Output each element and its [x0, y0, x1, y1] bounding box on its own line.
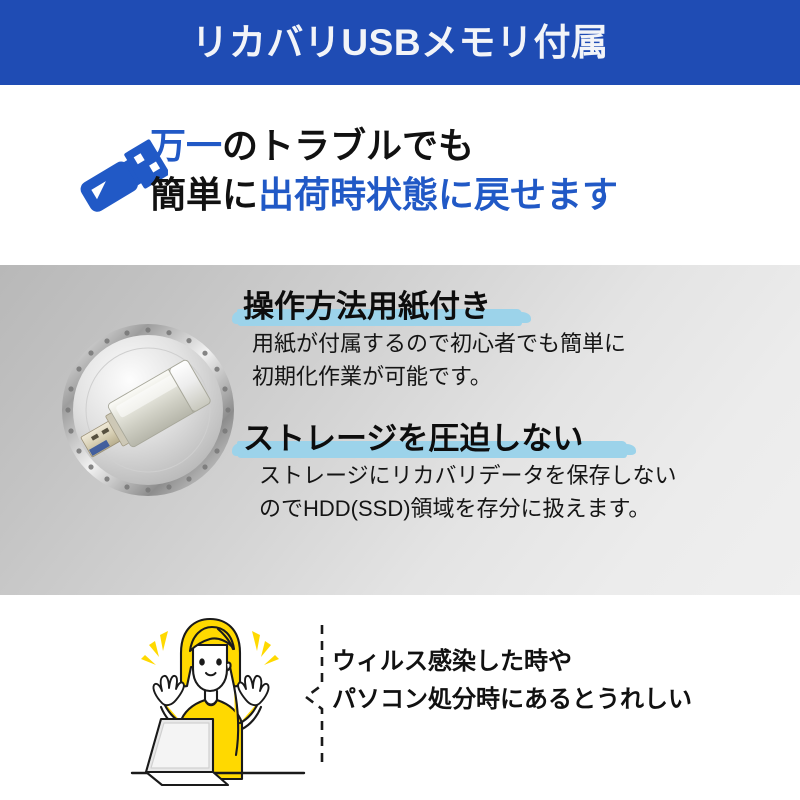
feature-1-body-line-1: 用紙が付属するので初心者でも簡単に	[252, 327, 783, 360]
bottom-caption-line-2: パソコン処分時にあるとうれしい	[332, 681, 792, 719]
page-title: リカバリUSBメモリ付属	[191, 24, 608, 61]
bottom-caption-line-1: ウィルス感染した時や	[332, 643, 792, 681]
headline-text-block: 万一のトラブルでも 簡単に出荷時状態に戻せます	[150, 121, 790, 219]
feature-2-body-line-1: ストレージにリカバリデータを保存しない	[259, 459, 783, 492]
bottom-caption: ウィルス感染した時や パソコン処分時にあるとうれしい	[332, 643, 792, 719]
feature-2-body-line-2: のでHDD(SSD)領域を存分に扱えます。	[259, 492, 783, 525]
usb-flash-drive-photo	[58, 320, 238, 500]
happy-woman-with-laptop-illustration	[118, 607, 318, 787]
feature-text-column: 操作方法用紙付き 用紙が付属するので初心者でも簡単に 初期化作業が可能です。 ス…	[243, 287, 783, 525]
feature-2-heading-text: ストレージを圧迫しない	[243, 421, 583, 456]
headline-line-1: 万一のトラブルでも	[150, 121, 790, 170]
headline-line-1-emphasis: 万一	[150, 125, 222, 166]
feature-1-heading-text: 操作方法用紙付き	[243, 289, 491, 324]
headline-line-2-emphasis: 出荷時状態に戻せます	[258, 174, 618, 215]
advertisement-page: リカバリUSBメモリ付属 万一の	[0, 0, 800, 800]
headline-line-1-rest: のトラブルでも	[222, 125, 474, 166]
feature-item-1: 操作方法用紙付き 用紙が付属するので初心者でも簡単に 初期化作業が可能です。	[243, 287, 783, 393]
bottom-section: ウィルス感染した時や パソコン処分時にあるとうれしい	[0, 595, 800, 800]
headline-section: 万一のトラブルでも 簡単に出荷時状態に戻せます	[0, 85, 800, 265]
headline-line-2: 簡単に出荷時状態に戻せます	[150, 170, 790, 219]
feature-item-2: ストレージを圧迫しない ストレージにリカバリデータを保存しない のでHDD(SS…	[243, 419, 783, 525]
headline-line-2-lead: 簡単に	[150, 174, 258, 215]
header-banner: リカバリUSBメモリ付属	[0, 0, 800, 85]
feature-1-body-line-2: 初期化作業が可能です。	[252, 360, 783, 393]
feature-2-heading: ストレージを圧迫しない	[243, 419, 583, 459]
feature-1-heading: 操作方法用紙付き	[243, 287, 491, 327]
feature-section: 操作方法用紙付き 用紙が付属するので初心者でも簡単に 初期化作業が可能です。 ス…	[0, 265, 800, 595]
dashed-speech-bubble-tail	[300, 623, 330, 768]
